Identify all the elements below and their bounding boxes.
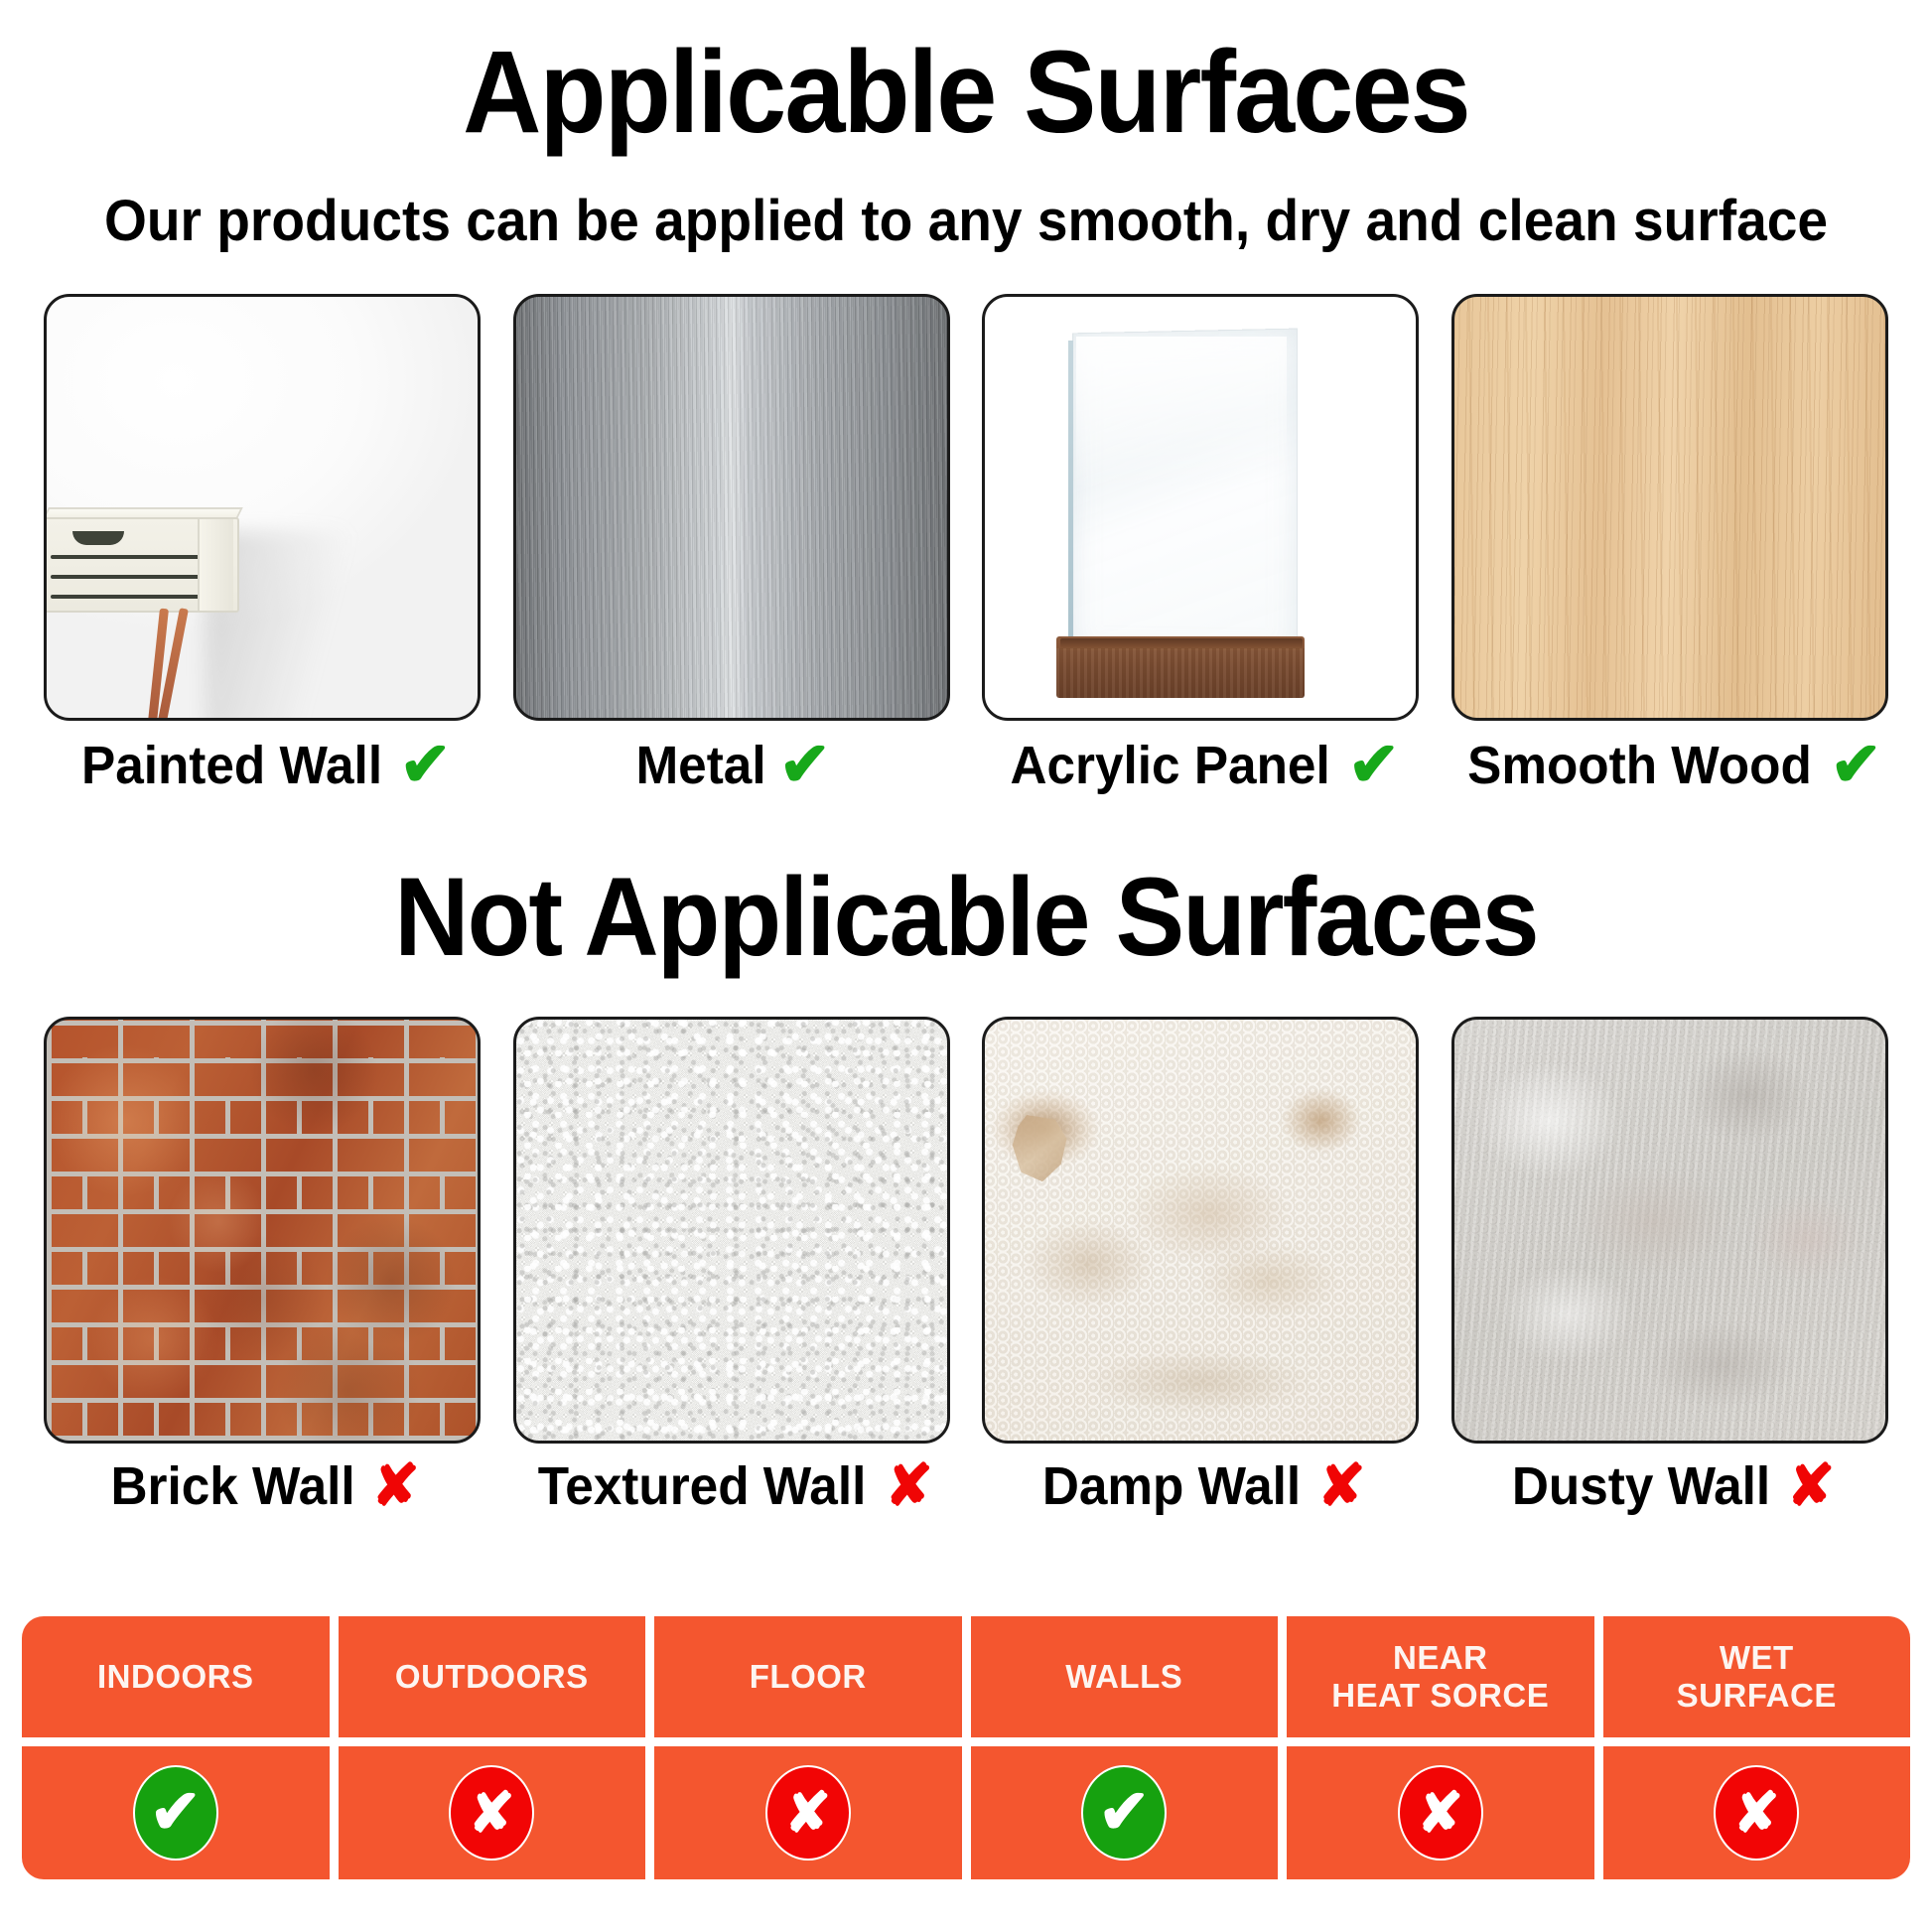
usage-status-indoors: ✔ [22,1746,330,1879]
check-icon: ✔ [1830,735,1881,796]
dusty-wall-photo [1451,1017,1888,1444]
peeling-paint-patch [1011,1115,1082,1194]
status-badge-cross-icon: ✘ [449,1765,534,1861]
surface-label-text: Dusty Wall [1511,1459,1769,1513]
acrylic-panel-photo [982,294,1419,721]
usage-header-line-2: SURFACE [1677,1677,1837,1714]
cross-icon: ✘ [1787,1457,1836,1515]
surface-label: Dusty Wall ✘ [1505,1457,1836,1515]
usage-status-floor: ✘ [654,1746,962,1879]
usage-header-floor: FLOOR [654,1616,962,1737]
smooth-wood-photo [1451,294,1888,721]
brick-color-variation [47,1020,478,1441]
surface-label: Acrylic Panel ✔ [1002,735,1400,796]
surface-card-textured-wall: Textured Wall ✘ [513,1017,950,1515]
check-icon: ✔ [779,735,831,796]
brick-wall-photo [44,1017,481,1444]
status-badge-check-icon: ✔ [1081,1765,1167,1861]
surface-card-dusty-wall: Dusty Wall ✘ [1451,1017,1888,1515]
painted-wall-photo [44,294,481,721]
surface-card-smooth-wood: Smooth Wood ✔ [1451,294,1888,796]
surface-card-metal: Metal ✔ [513,294,950,796]
cross-icon: ✘ [885,1457,933,1515]
usage-header-line-2: HEAT SORCE [1331,1677,1549,1714]
section-title-not-applicable: Not Applicable Surfaces [68,862,1864,973]
applicable-surfaces-row: Painted Wall ✔ Metal ✔ [0,294,1932,796]
usage-status-near-heat-source: ✘ [1287,1746,1594,1879]
usage-header-label: FLOOR [750,1658,867,1696]
infographic-page: Applicable Surfaces Our products can be … [0,0,1932,1932]
damp-wall-photo [982,1017,1419,1444]
usage-header-line-1: NEAR [1393,1639,1488,1676]
usage-table-header-row: INDOORS OUTDOORS FLOOR WALLS NEAR HEAT S… [22,1616,1910,1737]
textured-wall-photo [513,1017,950,1444]
surface-label-text: Acrylic Panel [1010,739,1329,792]
acrylic-edge [1068,341,1073,656]
surface-label-text: Damp Wall [1042,1459,1301,1513]
surface-label: Textured Wall ✘ [529,1457,933,1515]
check-icon: ✔ [1348,735,1400,796]
status-badge-cross-icon: ✘ [765,1765,851,1861]
drawer-handle-icon [72,531,124,545]
usage-header-label: NEAR HEAT SORCE [1331,1639,1549,1716]
cross-icon: ✘ [371,1457,420,1515]
usage-header-line-1: WET [1720,1639,1794,1676]
surface-label: Metal ✔ [632,735,831,796]
acrylic-sheen [1076,337,1287,485]
status-badge-cross-icon: ✘ [1398,1765,1483,1861]
surface-card-acrylic-panel: Acrylic Panel ✔ [982,294,1419,796]
surface-label-text: Painted Wall [80,739,381,792]
surface-label-text: Smooth Wood [1467,739,1812,792]
usage-header-wet-surface: WET SURFACE [1603,1616,1911,1737]
usage-header-label: WET SURFACE [1677,1639,1837,1716]
usage-header-label: OUTDOORS [395,1658,589,1696]
surface-label: Painted Wall ✔ [73,735,452,796]
surface-card-painted-wall: Painted Wall ✔ [44,294,481,796]
wooden-base-grain [1056,648,1305,698]
surface-label: Smooth Wood ✔ [1458,735,1882,796]
usage-table-status-row: ✔ ✘ ✘ ✔ ✘ ✘ [22,1746,1910,1879]
surface-label-text: Brick Wall [111,1459,355,1513]
surface-label: Brick Wall ✘ [104,1457,420,1515]
status-badge-check-icon: ✔ [133,1765,218,1861]
surface-card-brick-wall: Brick Wall ✘ [44,1017,481,1515]
usage-table: INDOORS OUTDOORS FLOOR WALLS NEAR HEAT S… [22,1616,1910,1879]
usage-header-near-heat-source: NEAR HEAT SORCE [1287,1616,1594,1737]
usage-header-outdoors: OUTDOORS [339,1616,646,1737]
console-table-side [198,519,233,611]
surface-card-damp-wall: Damp Wall ✘ [982,1017,1419,1515]
surface-label: Damp Wall ✘ [1035,1457,1366,1515]
not-applicable-surfaces-row: Brick Wall ✘ Textured Wall ✘ Damp Wall ✘ [0,1017,1932,1515]
brushed-metal-photo [513,294,950,721]
usage-status-walls: ✔ [971,1746,1279,1879]
page-subtitle: Our products can be applied to any smoot… [49,193,1884,250]
usage-header-label: WALLS [1065,1658,1182,1696]
usage-header-walls: WALLS [971,1616,1279,1737]
usage-header-indoors: INDOORS [22,1616,330,1737]
usage-header-label: INDOORS [97,1658,254,1696]
surface-label-text: Textured Wall [538,1459,867,1513]
cross-icon: ✘ [1317,1457,1366,1515]
status-badge-cross-icon: ✘ [1714,1765,1799,1861]
usage-status-wet-surface: ✘ [1603,1746,1911,1879]
usage-status-outdoors: ✘ [339,1746,646,1879]
surface-label-text: Metal [635,739,765,792]
page-title: Applicable Surfaces [68,0,1864,151]
check-icon: ✔ [400,735,452,796]
